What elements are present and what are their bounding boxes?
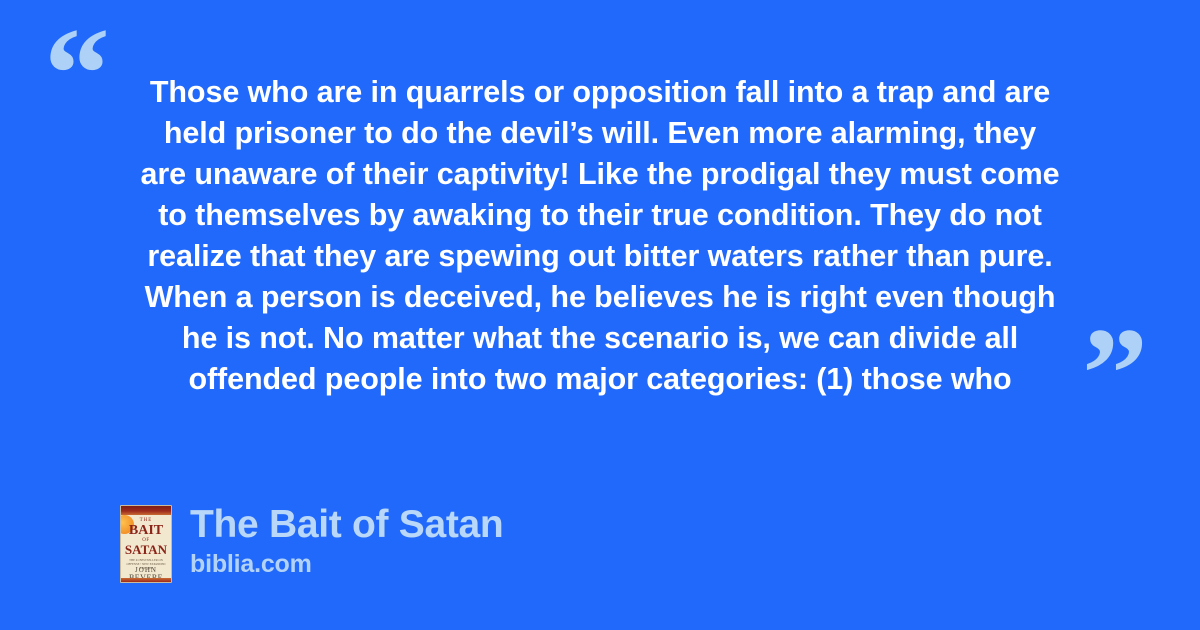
cover-title-bait: BAIT <box>121 524 171 538</box>
quote-card: “ Those who are in quarrels or oppositio… <box>0 0 1200 630</box>
site-name: biblia.com <box>190 549 503 579</box>
quote-line: are unaware of their captivity! Like the… <box>100 154 1100 195</box>
attribution: THE BAIT OF SATAN THE #1 BESTSELLER ON O… <box>120 505 503 583</box>
cover-title-satan: SATAN <box>121 543 171 556</box>
quote-line: realize that they are spewing out bitter… <box>100 236 1100 277</box>
book-title: The Bait of Satan <box>190 503 503 547</box>
opening-quote-icon: “ <box>44 8 108 140</box>
quote-text: Those who are in quarrels or opposition … <box>100 72 1100 400</box>
quote-line: held prisoner to do the devil’s will. Ev… <box>100 113 1100 154</box>
quote-line: When a person is deceived, he believes h… <box>100 277 1100 318</box>
cover-top-band <box>121 506 171 515</box>
quote-block: “ Those who are in quarrels or oppositio… <box>0 0 1200 440</box>
cover-bottom-band <box>121 578 171 582</box>
book-cover-thumbnail: THE BAIT OF SATAN THE #1 BESTSELLER ON O… <box>120 505 172 583</box>
quote-line: offended people into two major categorie… <box>100 359 1100 400</box>
quote-line: to themselves by awaking to their true c… <box>100 195 1100 236</box>
quote-line: he is not. No matter what the scenario i… <box>100 318 1100 359</box>
quote-line: Those who are in quarrels or opposition … <box>100 72 1100 113</box>
attribution-text: The Bait of Satan biblia.com <box>190 505 503 579</box>
closing-quote-icon: ” <box>1082 308 1146 440</box>
